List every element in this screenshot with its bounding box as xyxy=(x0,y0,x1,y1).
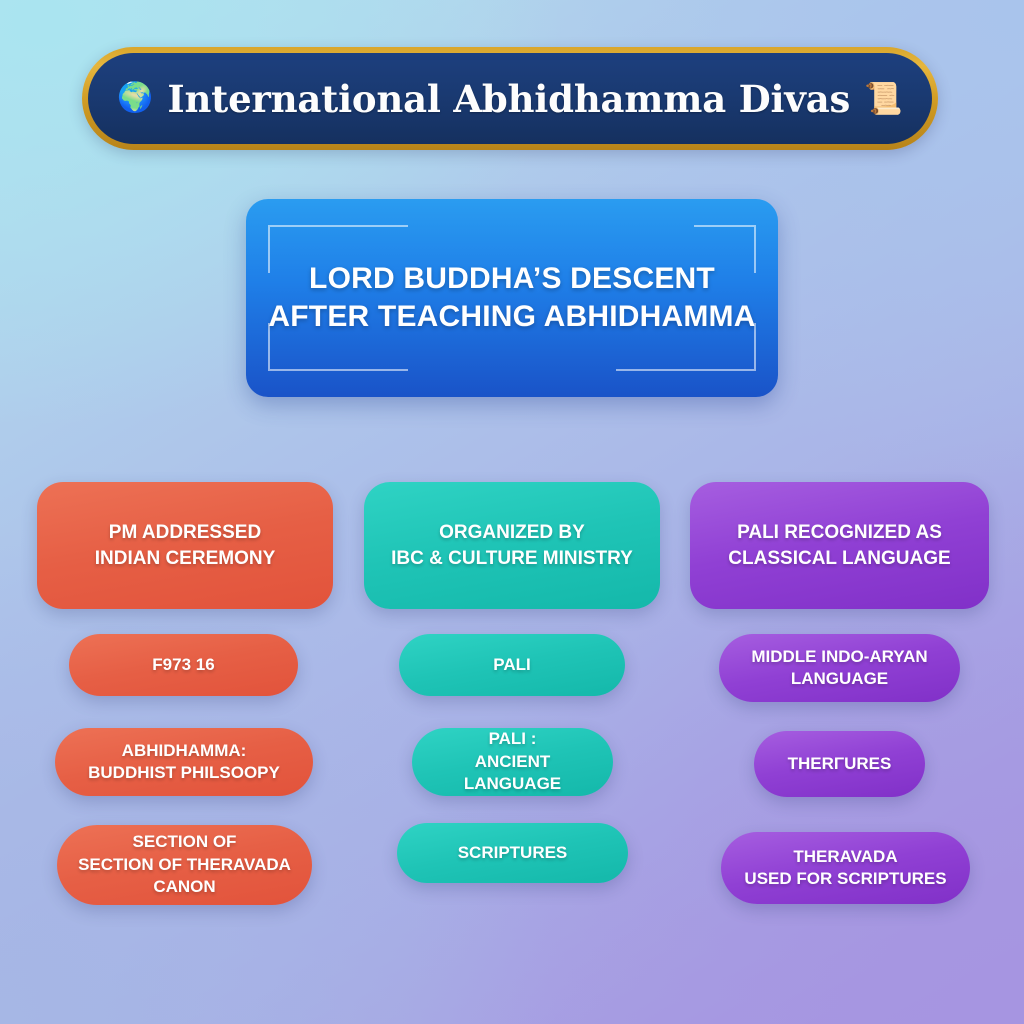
card-item-pali-classical-3[interactable]: THERAVADA USED FOR SCRIPTURES xyxy=(721,832,970,904)
card-item-pm-ceremony-3[interactable]: SECTION OF SECTION OF THERAVADA CANON xyxy=(57,825,312,905)
card-item-pali-classical-1[interactable]: MIDDLE INDO-ARYAN LANGUAGE xyxy=(719,634,960,702)
infographic-page: 🌍 International Abhidhamma Divas 📜 LORD … xyxy=(0,0,1024,1024)
card-item-organized-by-3[interactable]: SCRIPTURES xyxy=(397,823,628,883)
card-item-pm-ceremony-1[interactable]: F973 16 xyxy=(69,634,298,696)
card-item-organized-by-2[interactable]: PALI : ANCIENT LANGUAGE xyxy=(412,728,613,796)
card-header-pali-classical[interactable]: PALI RECOGNIZED AS CLASSICAL LANGUAGE xyxy=(690,482,989,609)
card-item-pali-classical-2[interactable]: THERΓURES xyxy=(754,731,925,797)
card-item-pm-ceremony-2[interactable]: ABHIDHAMMA: BUDDHIST PHILSOOPY xyxy=(55,728,313,796)
card-header-organized-by[interactable]: ORGANIZED BY IBC & CULTURE MINISTRY xyxy=(364,482,660,609)
card-item-organized-by-1[interactable]: PALI xyxy=(399,634,625,696)
cards-area: PM ADDRESSED INDIAN CEREMONY F973 16 ABH… xyxy=(0,0,1024,1024)
card-header-pm-ceremony[interactable]: PM ADDRESSED INDIAN CEREMONY xyxy=(37,482,333,609)
